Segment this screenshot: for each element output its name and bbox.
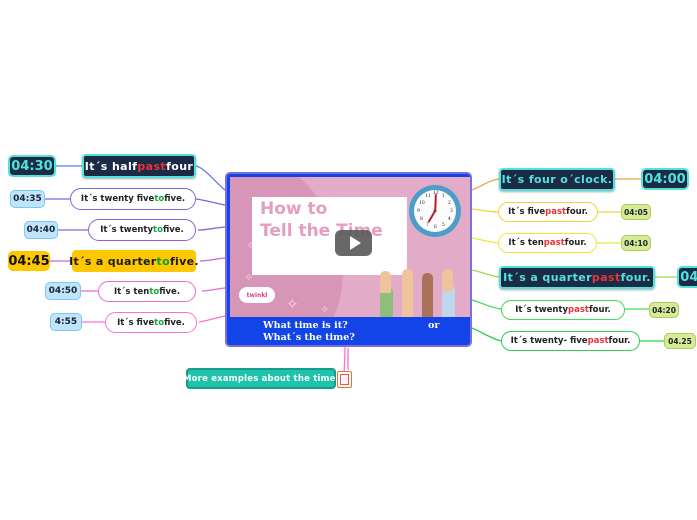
- right-node-five-past-four[interactable]: It´s five past four.: [498, 202, 598, 222]
- node-text-highlight: to: [157, 255, 170, 268]
- node-text-highlight: past: [544, 238, 565, 248]
- right-node-twenty-past-four[interactable]: It´s twenty past four.: [501, 300, 625, 320]
- caption-line-2: What´s the time?: [263, 332, 355, 343]
- more-examples-node[interactable]: More examples about the time.: [186, 368, 336, 389]
- node-text: It´s five: [117, 318, 154, 328]
- time-badge-0420[interactable]: 04:20: [649, 302, 679, 318]
- clock-center-pin: [434, 210, 437, 213]
- node-text: It´s twenty five: [81, 194, 154, 204]
- play-triangle-icon: [350, 236, 361, 250]
- caption-line-1: What time is it?: [263, 320, 348, 331]
- node-text: four.: [609, 336, 631, 346]
- node-text: five.: [164, 318, 185, 328]
- node-text: It´s five: [508, 207, 545, 217]
- node-text-highlight: to: [149, 287, 159, 297]
- node-text: It´s four o´clock.: [502, 173, 613, 186]
- node-text: four.: [589, 305, 611, 315]
- node-text: five.: [159, 287, 180, 297]
- node-text: four.: [565, 238, 587, 248]
- node-text: It´s twenty: [515, 305, 568, 315]
- node-text: It´s twenty- five: [511, 336, 588, 346]
- play-button[interactable]: [335, 230, 372, 256]
- node-text: five.: [163, 225, 184, 235]
- clock-face: 12 1 2 3 4 5 6 7 8 9 10 11: [414, 190, 456, 232]
- twinkl-logo: twinkl: [239, 287, 275, 303]
- raised-hand: [422, 273, 433, 317]
- node-text-highlight: to: [153, 225, 163, 235]
- time-badge-0410[interactable]: 04:10: [621, 235, 651, 251]
- node-text: four.: [621, 271, 651, 284]
- time-badge-0450[interactable]: 04:50: [45, 282, 81, 300]
- node-text: It´s a quarter: [503, 271, 592, 284]
- time-badge-0425[interactable]: 04.25: [664, 333, 696, 349]
- clock-illustration: 12 1 2 3 4 5 6 7 8 9 10 11: [409, 185, 461, 237]
- time-badge-0455[interactable]: 4:55: [50, 313, 82, 331]
- left-node-five-to-five[interactable]: It´s five to five.: [105, 312, 197, 333]
- mindmap-canvas: ✧ ✧ ✧ ✧ ✧ How to Tell the Time twinkl 12…: [0, 0, 697, 520]
- time-badge-0445[interactable]: 04:45: [8, 251, 50, 271]
- node-text: It´s half: [85, 160, 138, 173]
- node-text: It´s ten: [114, 287, 149, 297]
- right-node-quarter-past-four[interactable]: It´s a quarter past four.: [499, 266, 655, 289]
- node-text: five.: [170, 255, 199, 268]
- left-node-twenty-to-five[interactable]: It´s twenty to five.: [88, 219, 196, 241]
- raised-hand: [380, 271, 391, 293]
- node-text-highlight: past: [137, 160, 166, 173]
- node-text-highlight: past: [592, 271, 621, 284]
- node-text: It´s twenty: [100, 225, 153, 235]
- node-text: four.: [566, 207, 588, 217]
- clock-minute-hand: [434, 194, 436, 211]
- node-text-highlight: past: [568, 305, 589, 315]
- image-attachment-icon[interactable]: [337, 371, 352, 388]
- right-node-ten-past-four[interactable]: It´s ten past four.: [498, 233, 597, 253]
- time-badge-0430[interactable]: 04:30: [8, 155, 56, 177]
- node-text: It´s a quarter: [69, 255, 156, 268]
- time-badge-0415[interactable]: 04:15: [677, 266, 697, 288]
- video-thumbnail[interactable]: ✧ ✧ ✧ ✧ ✧ How to Tell the Time twinkl 12…: [230, 177, 471, 317]
- time-badge-0405[interactable]: 04:05: [621, 204, 651, 220]
- left-node-ten-to-five[interactable]: It´s ten to five.: [98, 281, 196, 302]
- caption-or: or: [428, 320, 439, 331]
- node-text: four: [166, 160, 193, 173]
- node-text: five.: [164, 194, 185, 204]
- star-decor: ✧: [320, 303, 329, 316]
- video-title-line1: How to: [260, 199, 327, 219]
- video-caption: What time is it? What´s the time? or: [230, 319, 471, 346]
- node-text-highlight: past: [545, 207, 566, 217]
- time-badge-0440[interactable]: 04:40: [24, 221, 58, 239]
- right-node-twentyfive-past-four[interactable]: It´s twenty- five past four.: [501, 331, 640, 351]
- raised-hand: [402, 269, 413, 317]
- left-node-twenty-five-to-five[interactable]: It´s twenty five to five.: [70, 188, 196, 210]
- node-text-highlight: past: [588, 336, 609, 346]
- node-text-highlight: to: [154, 318, 164, 328]
- time-badge-0400[interactable]: 04:00: [641, 168, 689, 190]
- node-text-highlight: to: [154, 194, 164, 204]
- right-node-four-oclock[interactable]: It´s four o´clock.: [499, 168, 615, 191]
- left-node-half-past-four[interactable]: It´s half past four: [82, 154, 196, 178]
- star-decor: ✧: [286, 295, 299, 313]
- node-text: It´s ten: [508, 238, 543, 248]
- time-badge-0435[interactable]: 04:35: [10, 190, 45, 208]
- raised-hand: [442, 269, 453, 291]
- left-node-quarter-to-five[interactable]: It´s a quarter to five.: [72, 250, 196, 272]
- video-embed-card[interactable]: ✧ ✧ ✧ ✧ ✧ How to Tell the Time twinkl 12…: [225, 172, 472, 347]
